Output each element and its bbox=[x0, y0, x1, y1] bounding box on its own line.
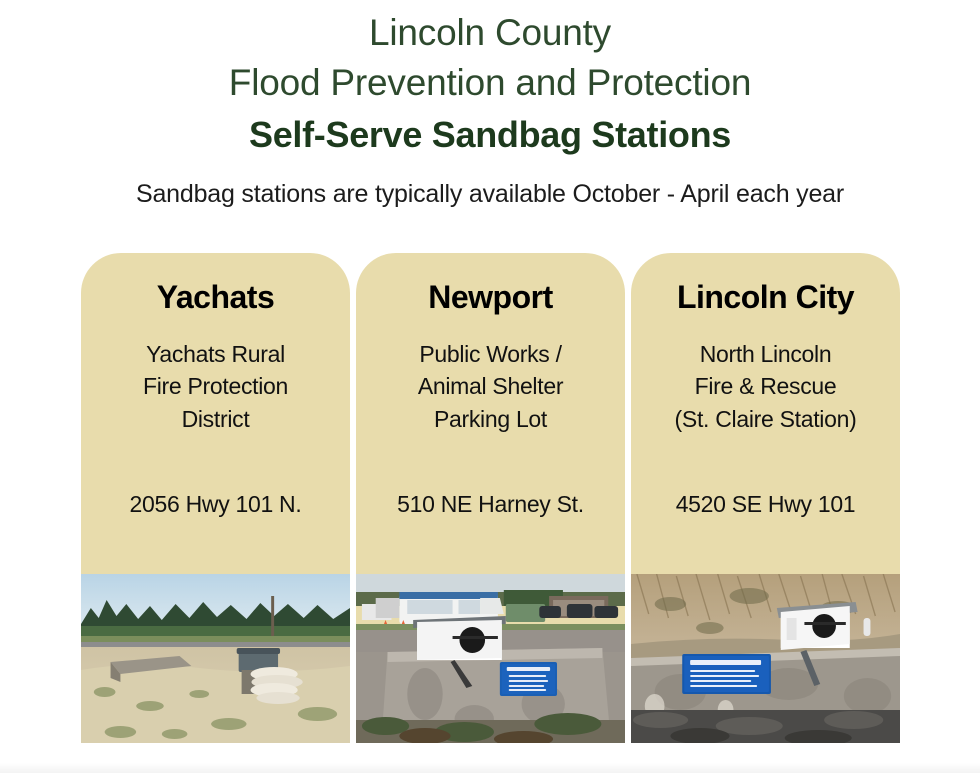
station-card-body: Newport Public Works / Animal Shelter Pa… bbox=[356, 253, 625, 574]
station-address: 2056 Hwy 101 N. bbox=[81, 491, 350, 518]
page-header: Lincoln County Flood Prevention and Prot… bbox=[0, 0, 980, 210]
page-title-line-1: Lincoln County bbox=[0, 10, 980, 55]
station-card[interactable]: Newport Public Works / Animal Shelter Pa… bbox=[356, 253, 625, 743]
station-card-body: Lincoln City North Lincoln Fire & Rescue… bbox=[631, 253, 900, 574]
station-city-name: Yachats bbox=[91, 279, 340, 316]
page-title-line-2: Flood Prevention and Protection bbox=[0, 60, 980, 105]
availability-subtitle: Sandbag stations are typically available… bbox=[0, 179, 980, 210]
station-photo bbox=[81, 574, 350, 743]
station-card-list: Yachats Yachats Rural Fire Protection Di… bbox=[81, 253, 900, 743]
station-card[interactable]: Yachats Yachats Rural Fire Protection Di… bbox=[81, 253, 350, 743]
station-place-name: Public Works / Animal Shelter Parking Lo… bbox=[366, 338, 615, 436]
station-place-name: Yachats Rural Fire Protection District bbox=[91, 338, 340, 436]
station-photo bbox=[356, 574, 625, 743]
station-card[interactable]: Lincoln City North Lincoln Fire & Rescue… bbox=[631, 253, 900, 743]
station-city-name: Lincoln City bbox=[641, 279, 890, 316]
page-title-line-3: Self-Serve Sandbag Stations bbox=[0, 113, 980, 157]
flyer-page: Lincoln County Flood Prevention and Prot… bbox=[0, 0, 980, 773]
station-city-name: Newport bbox=[366, 279, 615, 316]
footer-strip bbox=[0, 763, 980, 773]
station-address: 510 NE Harney St. bbox=[356, 491, 625, 518]
station-photo bbox=[631, 574, 900, 743]
station-address: 4520 SE Hwy 101 bbox=[631, 491, 900, 518]
station-place-name: North Lincoln Fire & Rescue (St. Claire … bbox=[641, 338, 890, 436]
station-card-body: Yachats Yachats Rural Fire Protection Di… bbox=[81, 253, 350, 574]
